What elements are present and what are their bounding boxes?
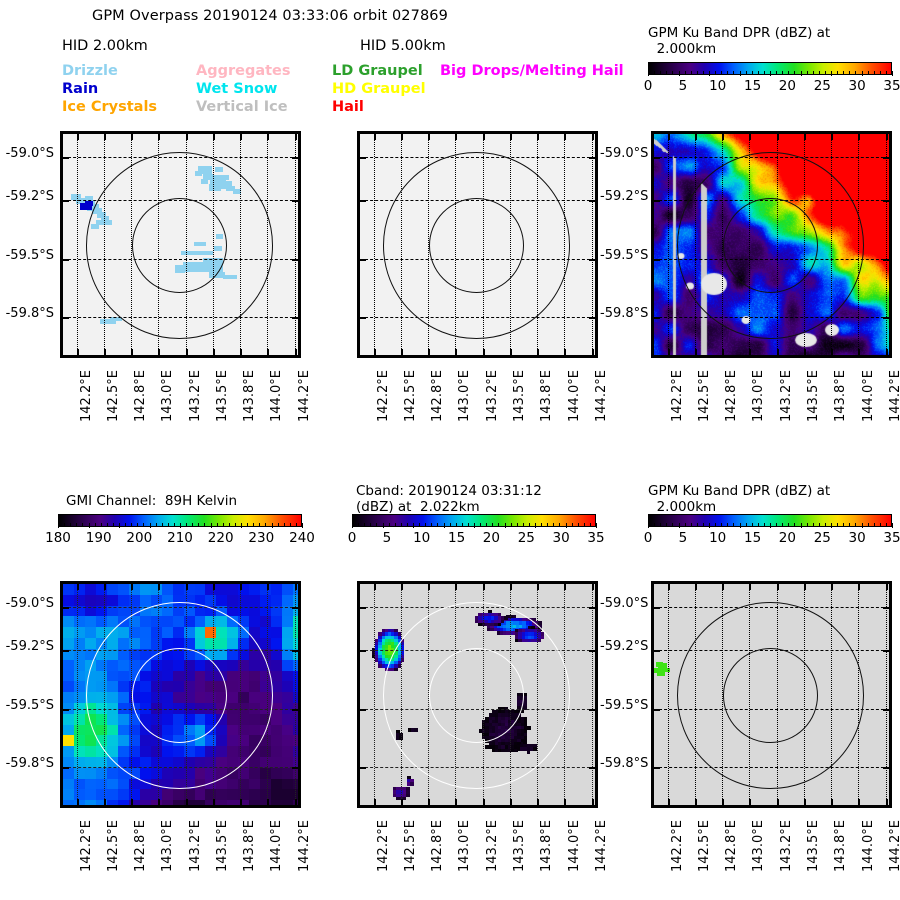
gmi-cell-5-5 <box>118 638 130 649</box>
dpr-bottom-colorbar-tick-5: 25 <box>814 530 831 546</box>
gmi-cell-7-8 <box>140 671 152 682</box>
gmi-cell-8-4 <box>151 627 163 638</box>
gmi-cell-8-1 <box>151 595 163 606</box>
gmi-cell-12-9 <box>195 681 207 692</box>
legend-vertical-ice: Vertical Ice <box>196 99 288 115</box>
gmi-cell-14-19 <box>216 789 228 800</box>
gmi-cell-8-13 <box>151 725 163 736</box>
cband-cell-nw <box>401 658 405 662</box>
gmi-cell-21-18 <box>293 779 301 790</box>
gmi-cell-14-17 <box>216 768 228 779</box>
gmi-cell-15-2 <box>227 606 239 617</box>
cband-colorbar-title: Cband: 20190124 03:31:12 (dBZ) at 2.022k… <box>356 484 542 515</box>
gmi-cell-14-3 <box>216 616 228 627</box>
gmi-cell-6-4 <box>129 627 141 638</box>
gmi-cell-7-10 <box>140 692 152 703</box>
gmi-cell-3-2 <box>96 606 108 617</box>
gmi-cell-14-9 <box>216 681 228 692</box>
cband-cell-central-n <box>524 706 528 710</box>
gmi-cell-9-11 <box>162 703 174 714</box>
xlabel-panel5-5: 143.5°E <box>512 820 527 872</box>
gmi-cell-18-8 <box>260 671 272 682</box>
gmi-cell-20-15 <box>282 746 294 757</box>
gmi-cell-2-20 <box>85 800 97 808</box>
gmi-cell-9-2 <box>162 606 174 617</box>
gmi-cell-11-5 <box>184 638 196 649</box>
gmi-cell-16-6 <box>238 649 250 660</box>
xlabel-panel1-3: 143.0°E <box>160 370 175 422</box>
ylabel-row2-right-1: -59.2°S <box>600 639 648 654</box>
cband-colorbar-tick-6: 30 <box>553 530 570 546</box>
gmi-cell-8-3 <box>151 616 163 627</box>
gmi-cell-3-8 <box>96 671 108 682</box>
gmi-cell-20-3 <box>282 616 294 627</box>
gmi-cell-18-16 <box>260 757 272 768</box>
hid-cell-drizzle-ne-6 <box>201 179 208 184</box>
gmi-cell-7-3 <box>140 616 152 627</box>
gmi-cell-17-3 <box>249 616 261 627</box>
gmi-cell-13-13 <box>205 725 217 736</box>
xlabel-panel5-0: 142.2°E <box>376 820 391 872</box>
ylabel-row2-left-2: -59.5°S <box>6 698 54 713</box>
gmi-cell-14-4 <box>216 627 228 638</box>
gmi-cell-6-14 <box>129 735 141 746</box>
gmi-colorbar-tick-2: 200 <box>126 530 152 546</box>
gmi-cell-7-15 <box>140 746 152 757</box>
gmi-cell-11-0 <box>184 584 196 595</box>
gmi-cell-0-4 <box>63 627 75 638</box>
gmi-cell-21-1 <box>293 595 301 606</box>
gmi-cell-9-15 <box>162 746 174 757</box>
gmi-cell-5-10 <box>118 692 130 703</box>
gmi-cell-10-17 <box>173 768 185 779</box>
gmi-cell-2-13 <box>85 725 97 736</box>
gmi-cell-16-8 <box>238 671 250 682</box>
gmi-cell-20-6 <box>282 649 294 660</box>
gmi-cell-12-13 <box>195 725 207 736</box>
gmi-cell-14-12 <box>216 714 228 725</box>
xlabel-panel6-5: 143.5°E <box>806 820 821 872</box>
gmi-cell-13-7 <box>205 660 217 671</box>
hid-cell-drizzle-central-5 <box>216 234 223 239</box>
gmi-cell-10-18 <box>173 779 185 790</box>
gmi-cell-8-16 <box>151 757 163 768</box>
xlabel-panel2-0: 142.2°E <box>376 370 391 422</box>
gmi-cell-21-13 <box>293 725 301 736</box>
cband-cell-nw <box>398 664 402 668</box>
gmi-cell-5-15 <box>118 746 130 757</box>
xlabel-panel4-8: 144.2°E <box>297 820 312 872</box>
ylabel-row1-right-3: -59.8°S <box>600 306 648 321</box>
gmi-cell-7-14 <box>140 735 152 746</box>
dpr-ku-top-field <box>654 134 889 355</box>
gmi-cell-6-8 <box>129 671 141 682</box>
gmi-cell-1-8 <box>74 671 86 682</box>
gmi-cell-15-6 <box>227 649 239 660</box>
gmi-cell-8-6 <box>151 649 163 660</box>
ylabel-row1-right-2: -59.5°S <box>600 248 648 263</box>
gmi-cell-0-10 <box>63 692 75 703</box>
gmi-cell-9-0 <box>162 584 174 595</box>
gmi-cell-15-1 <box>227 595 239 606</box>
dpr-top-colorbar-tickrow <box>648 71 892 76</box>
gmi-cell-6-10 <box>129 692 141 703</box>
gmi-cell-13-8 <box>205 671 217 682</box>
gmi-cell-21-2 <box>293 606 301 617</box>
dpr-bottom-colorbar-tickrow <box>648 523 892 528</box>
gmi-cell-4-5 <box>107 638 119 649</box>
gmi-cell-13-3 <box>205 616 217 627</box>
gmi-cell-2-11 <box>85 703 97 714</box>
gmi-cell-20-0 <box>282 584 294 595</box>
gmi-cell-16-3 <box>238 616 250 627</box>
gmi-cell-14-10 <box>216 692 228 703</box>
gmi-cell-16-18 <box>238 779 250 790</box>
gmi-89h-field <box>63 584 298 805</box>
dpr-top-colorbar-tick-7: 35 <box>883 78 900 94</box>
dpr-ku-top-raster <box>654 134 892 358</box>
gmi-cell-9-6 <box>162 649 174 660</box>
gmi-cell-21-9 <box>293 681 301 692</box>
gmi-cell-12-3 <box>195 616 207 627</box>
gmi-cell-7-4 <box>140 627 152 638</box>
gmi-cell-9-9 <box>162 681 174 692</box>
gmi-cell-3-0 <box>96 584 108 595</box>
gmi-cell-7-12 <box>140 714 152 725</box>
gmi-cell-16-12 <box>238 714 250 725</box>
gmi-cell-4-19 <box>107 789 119 800</box>
gmi-cell-5-19 <box>118 789 130 800</box>
cband-cell-central-s <box>533 747 537 751</box>
gmi-cell-15-19 <box>227 789 239 800</box>
gmi-cell-18-2 <box>260 606 272 617</box>
gmi-cell-0-13 <box>63 725 75 736</box>
gmi-colorbar-tick-0: 180 <box>45 530 71 546</box>
gmi-cell-1-12 <box>74 714 86 725</box>
xlabel-panel5-4: 143.2°E <box>485 820 500 872</box>
gmi-cell-2-17 <box>85 768 97 779</box>
gmi-cell-18-12 <box>260 714 272 725</box>
gmi-cell-3-19 <box>96 789 108 800</box>
panel-dpr-ku-top[interactable] <box>651 131 892 358</box>
gmi-cell-6-3 <box>129 616 141 627</box>
dpr-bottom-colorbar-title: GPM Ku Band DPR (dBZ) at 2.000km <box>648 484 830 515</box>
panel-hid-2km[interactable] <box>60 131 301 358</box>
gmi-cell-3-17 <box>96 768 108 779</box>
gmi-cell-19-0 <box>271 584 283 595</box>
gmi-cell-14-16 <box>216 757 228 768</box>
gmi-cell-17-15 <box>249 746 261 757</box>
cband-cell-ne-b <box>501 620 505 624</box>
gmi-colorbar-title: GMI Channel: 89H Kelvin <box>66 494 237 510</box>
xlabel-panel1-1: 142.5°E <box>106 370 121 422</box>
dpr-top-colorbar-tick-4: 20 <box>779 78 796 94</box>
gmi-cell-4-20 <box>107 800 119 808</box>
gmi-cell-12-6 <box>195 649 207 660</box>
gmi-cell-9-7 <box>162 660 174 671</box>
gmi-cell-4-18 <box>107 779 119 790</box>
dpr-bottom-colorbar-tick-6: 30 <box>849 530 866 546</box>
gmi-cell-0-3 <box>63 616 75 627</box>
gmi-cell-9-20 <box>162 800 174 808</box>
gmi-cell-20-7 <box>282 660 294 671</box>
ylabel-row1-left-1: -59.2°S <box>6 189 54 204</box>
gmi-cell-17-1 <box>249 595 261 606</box>
gmi-cell-6-7 <box>129 660 141 671</box>
gmi-cell-10-3 <box>173 616 185 627</box>
gmi-cell-3-14 <box>96 735 108 746</box>
gmi-cell-20-2 <box>282 606 294 617</box>
gmi-cell-11-13 <box>184 725 196 736</box>
gmi-cell-5-4 <box>118 627 130 638</box>
gmi-cell-12-2 <box>195 606 207 617</box>
xlabel-panel3-4: 143.2°E <box>779 370 794 422</box>
gmi-cell-19-17 <box>271 768 283 779</box>
gmi-cell-5-9 <box>118 681 130 692</box>
hid-2km-title: HID 2.00km <box>62 38 148 54</box>
gmi-cell-0-1 <box>63 595 75 606</box>
cband-colorbar-tick-7: 35 <box>587 530 604 546</box>
ylabel-row2-left-1: -59.2°S <box>6 639 54 654</box>
gmi-cell-14-20 <box>216 800 228 808</box>
panel-hid-5km[interactable] <box>357 131 598 358</box>
gmi-cell-13-20 <box>205 800 217 808</box>
gmi-cell-14-14 <box>216 735 228 746</box>
legend-hd-graupel: HD Graupel <box>332 81 426 97</box>
gmi-cell-15-0 <box>227 584 239 595</box>
gmi-cell-2-7 <box>85 660 97 671</box>
hid-cell-drizzle-central-7 <box>223 275 237 279</box>
gmi-cell-11-7 <box>184 660 196 671</box>
gmi-cell-10-5 <box>173 638 185 649</box>
gmi-cell-19-2 <box>271 606 283 617</box>
gmi-cell-14-0 <box>216 584 228 595</box>
cband-cell-nw <box>394 668 398 672</box>
xlabel-panel2-4: 143.2°E <box>485 370 500 422</box>
gmi-cell-16-4 <box>238 627 250 638</box>
gmi-cell-18-20 <box>260 800 272 808</box>
gmi-cell-20-20 <box>282 800 294 808</box>
gmi-cell-6-9 <box>129 681 141 692</box>
gmi-cell-7-9 <box>140 681 152 692</box>
gmi-cell-0-20 <box>63 800 75 808</box>
gmi-cell-17-11 <box>249 703 261 714</box>
xlabel-panel4-5: 143.5°E <box>215 820 230 872</box>
gmi-cell-19-8 <box>271 671 283 682</box>
gmi-cell-17-20 <box>249 800 261 808</box>
gmi-cell-3-7 <box>96 660 108 671</box>
gmi-cell-17-12 <box>249 714 261 725</box>
gmi-cell-7-2 <box>140 606 152 617</box>
gmi-cell-5-16 <box>118 757 130 768</box>
gmi-cell-2-0 <box>85 584 97 595</box>
gmi-cell-10-2 <box>173 606 185 617</box>
panel-cband-refl[interactable] <box>357 581 598 808</box>
gmi-cell-1-1 <box>74 595 86 606</box>
xlabel-panel2-5: 143.5°E <box>512 370 527 422</box>
gmi-cell-9-13 <box>162 725 174 736</box>
gmi-cell-19-20 <box>271 800 283 808</box>
xlabel-panel6-8: 144.2°E <box>888 820 900 872</box>
gmi-cell-4-2 <box>107 606 119 617</box>
gmi-cell-16-5 <box>238 638 250 649</box>
gmi-cell-15-7 <box>227 660 239 671</box>
gmi-cell-1-15 <box>74 746 86 757</box>
gmi-cell-17-19 <box>249 789 261 800</box>
gmi-cell-17-16 <box>249 757 261 768</box>
gmi-cell-19-13 <box>271 725 283 736</box>
gmi-cell-4-14 <box>107 735 119 746</box>
cband-speck-w-0 <box>399 736 403 740</box>
gmi-cell-15-13 <box>227 725 239 736</box>
gmi-cell-11-11 <box>184 703 196 714</box>
gmi-cell-20-14 <box>282 735 294 746</box>
xlabel-panel2-6: 143.8°E <box>539 370 554 422</box>
gmi-cell-21-6 <box>293 649 301 660</box>
dpr-top-colorbar-tick-6: 30 <box>849 78 866 94</box>
gmi-cell-20-10 <box>282 692 294 703</box>
hid-cell-drizzle-central-4 <box>214 246 222 251</box>
gmi-cell-5-2 <box>118 606 130 617</box>
gmi-cell-18-17 <box>260 768 272 779</box>
ylabel-row2-left-3: -59.8°S <box>6 756 54 771</box>
hid-cell-drizzle-sw-1 <box>110 317 122 321</box>
gmi-cell-7-7 <box>140 660 152 671</box>
gmi-cell-7-11 <box>140 703 152 714</box>
gmi-cell-21-10 <box>293 692 301 703</box>
cband-cell-central <box>527 726 531 730</box>
gmi-cell-20-1 <box>282 595 294 606</box>
gmi-cell-15-15 <box>227 746 239 757</box>
gmi-cell-17-5 <box>249 638 261 649</box>
gmi-cell-18-1 <box>260 595 272 606</box>
gmi-cell-15-8 <box>227 671 239 682</box>
xlabel-panel3-5: 143.5°E <box>806 370 821 422</box>
gmi-cell-21-3 <box>293 616 301 627</box>
gmi-cell-0-9 <box>63 681 75 692</box>
gmi-cell-6-17 <box>129 768 141 779</box>
gmi-cell-17-14 <box>249 735 261 746</box>
gmi-cell-13-9 <box>205 681 217 692</box>
gmi-cell-6-19 <box>129 789 141 800</box>
gmi-cell-16-19 <box>238 789 250 800</box>
gmi-cell-20-17 <box>282 768 294 779</box>
gmi-cell-8-5 <box>151 638 163 649</box>
gmi-cell-8-2 <box>151 606 163 617</box>
gmi-cell-15-9 <box>227 681 239 692</box>
hid-cell-drizzle-central-8 <box>175 265 185 273</box>
gmi-cell-12-7 <box>195 660 207 671</box>
gmi-cell-16-7 <box>238 660 250 671</box>
gmi-cell-16-10 <box>238 692 250 703</box>
cband-colorbar-tick-0: 0 <box>348 530 357 546</box>
gmi-cell-16-9 <box>238 681 250 692</box>
gmi-cell-0-0 <box>63 584 75 595</box>
gmi-cell-9-17 <box>162 768 174 779</box>
gmi-cell-18-10 <box>260 692 272 703</box>
gmi-cell-14-1 <box>216 595 228 606</box>
gmi-cell-10-7 <box>173 660 185 671</box>
gmi-cell-9-1 <box>162 595 174 606</box>
gmi-cell-11-20 <box>184 800 196 808</box>
gmi-cell-18-14 <box>260 735 272 746</box>
gmi-cell-18-9 <box>260 681 272 692</box>
cband-speck-sw <box>406 794 410 798</box>
gmi-cell-3-9 <box>96 681 108 692</box>
gmi-cell-12-20 <box>195 800 207 808</box>
gmi-cell-12-0 <box>195 584 207 595</box>
xlabel-panel4-6: 143.8°E <box>242 820 257 872</box>
legend-rain: Rain <box>62 81 98 97</box>
gmi-cell-15-17 <box>227 768 239 779</box>
gmi-cell-8-11 <box>151 703 163 714</box>
gmi-cell-16-14 <box>238 735 250 746</box>
gmi-cell-8-7 <box>151 660 163 671</box>
gmi-cell-21-11 <box>293 703 301 714</box>
gmi-cell-12-15 <box>195 746 207 757</box>
cband-cell-ne-b <box>498 623 502 627</box>
gmi-cell-14-13 <box>216 725 228 736</box>
legend-hail: Hail <box>332 99 364 115</box>
gmi-cell-3-15 <box>96 746 108 757</box>
xlabel-panel2-2: 142.8°E <box>430 370 445 422</box>
gmi-cell-19-10 <box>271 692 283 703</box>
gmi-cell-19-11 <box>271 703 283 714</box>
gmi-cell-4-8 <box>107 671 119 682</box>
gmi-cell-21-8 <box>293 671 301 682</box>
gmi-cell-8-0 <box>151 584 163 595</box>
gmi-cell-13-0 <box>205 584 217 595</box>
gmi-cell-20-5 <box>282 638 294 649</box>
gmi-cell-18-4 <box>260 627 272 638</box>
gmi-cell-9-14 <box>162 735 174 746</box>
gmi-cell-4-6 <box>107 649 119 660</box>
gmi-cell-5-20 <box>118 800 130 808</box>
xlabel-panel4-1: 142.5°E <box>106 820 121 872</box>
gmi-cell-19-18 <box>271 779 283 790</box>
gmi-cell-11-8 <box>184 671 196 682</box>
xlabel-panel3-7: 144.0°E <box>861 370 876 422</box>
panel-gmi-89h[interactable] <box>60 581 301 808</box>
gmi-cell-8-8 <box>151 671 163 682</box>
gmi-cell-4-12 <box>107 714 119 725</box>
gmi-cell-21-16 <box>293 757 301 768</box>
dpr-bottom-echo-4 <box>664 668 670 672</box>
gmi-cell-20-12 <box>282 714 294 725</box>
gmi-cell-16-20 <box>238 800 250 808</box>
gmi-cell-4-4 <box>107 627 119 638</box>
gmi-cell-19-15 <box>271 746 283 757</box>
xlabel-panel3-8: 144.2°E <box>888 370 900 422</box>
gmi-cell-13-4 <box>205 627 217 638</box>
gmi-cell-1-2 <box>74 606 86 617</box>
gmi-cell-10-12 <box>173 714 185 725</box>
figure-suptitle: GPM Overpass 20190124 03:33:06 orbit 027… <box>92 8 448 24</box>
gmi-cell-2-8 <box>85 671 97 682</box>
gmi-cell-8-15 <box>151 746 163 757</box>
xlabel-panel2-3: 143.0°E <box>457 370 472 422</box>
gmi-cell-6-0 <box>129 584 141 595</box>
gmi-cell-10-13 <box>173 725 185 736</box>
gmi-cell-20-8 <box>282 671 294 682</box>
ylabel-row1-left-0: -59.0°S <box>6 146 54 161</box>
gmi-cell-13-5 <box>205 638 217 649</box>
gmi-cell-14-11 <box>216 703 228 714</box>
panel-dpr-ku-bottom[interactable] <box>651 581 892 808</box>
xlabel-panel1-8: 144.2°E <box>297 370 312 422</box>
legend-big-drops-melting-hail: Big Drops/Melting Hail <box>440 63 624 79</box>
xlabel-panel1-4: 143.2°E <box>188 370 203 422</box>
